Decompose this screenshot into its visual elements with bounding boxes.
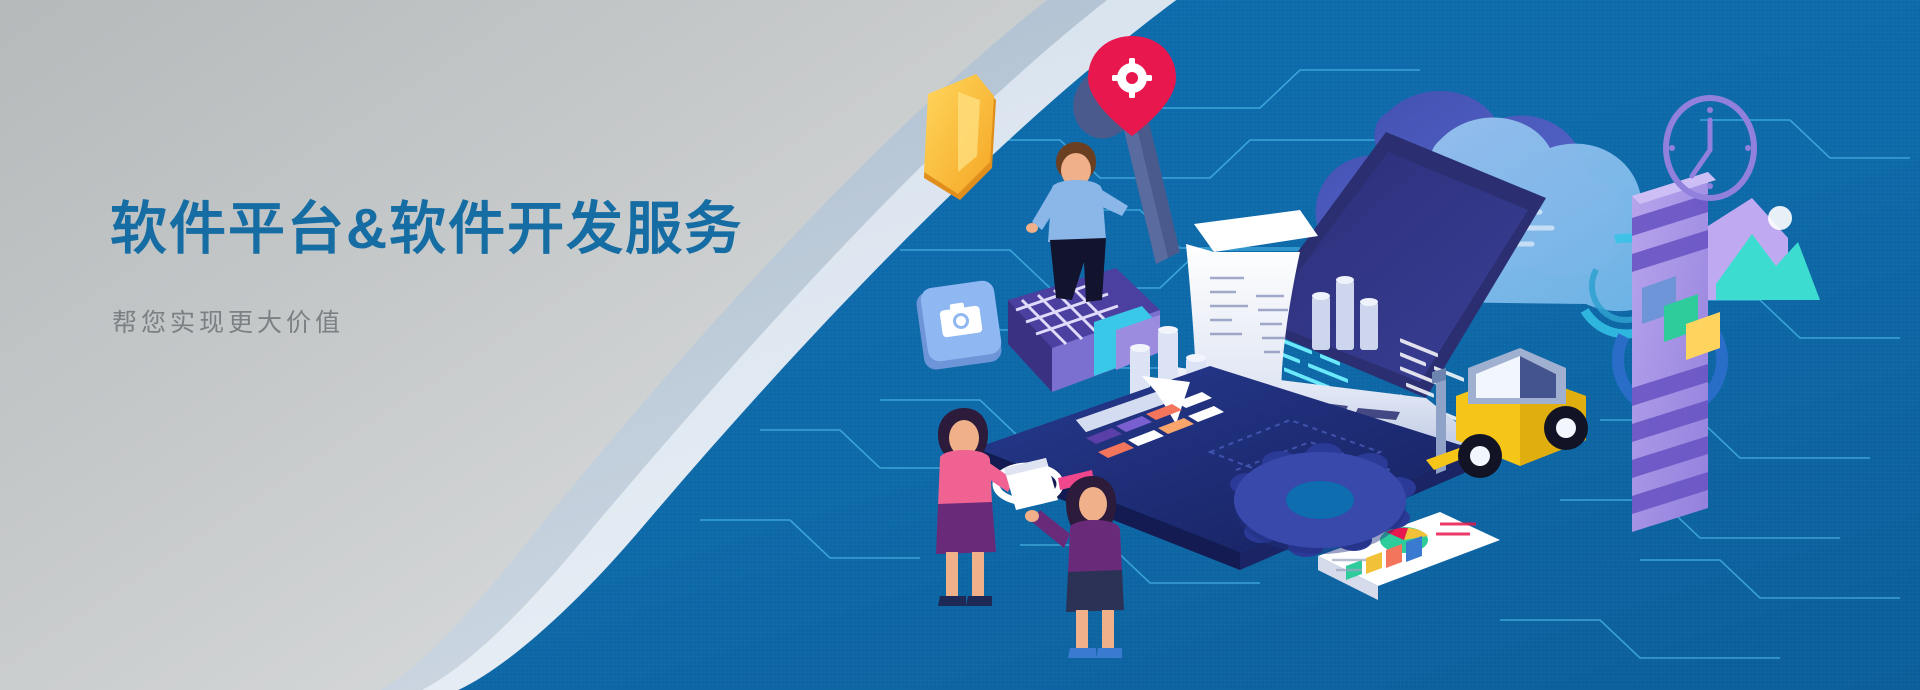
page-subtitle: 帮您实现更大价值 bbox=[112, 307, 810, 340]
hero-banner: 软件平台&软件开发服务 帮您实现更大价值 bbox=[0, 0, 1920, 690]
shield-icon bbox=[924, 74, 996, 200]
page-title: 软件平台&软件开发服务 bbox=[110, 196, 810, 263]
banner-copy: 软件平台&软件开发服务 帮您实现更大价值 bbox=[110, 196, 810, 340]
isometric-illustration bbox=[880, 0, 1920, 690]
mountain-chart-icon bbox=[1708, 198, 1820, 300]
clock-icon bbox=[1666, 98, 1754, 198]
camera-tile-icon bbox=[915, 279, 1003, 371]
forklift-vehicle bbox=[1426, 348, 1588, 478]
stripe-panel bbox=[1632, 172, 1720, 532]
